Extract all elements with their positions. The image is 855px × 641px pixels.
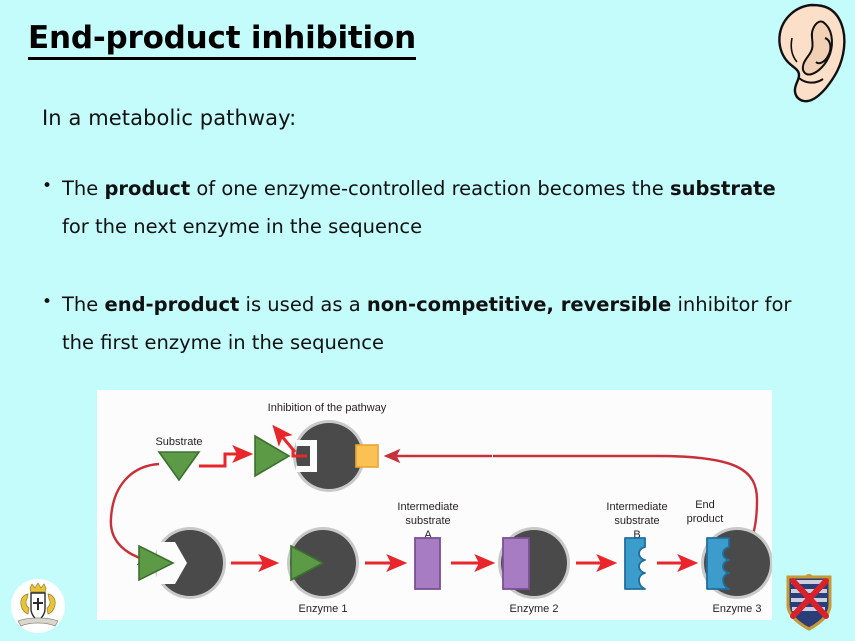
label-substrate: Substrate	[155, 436, 202, 448]
arrow-rejection	[275, 428, 295, 452]
label-end-product-line1: End	[695, 499, 715, 511]
bullet-item-1: • The product of one enzyme-controlled r…	[42, 170, 804, 246]
arrow-substrate-to-enzyme	[199, 454, 249, 466]
label-inhibition-of-pathway: Inhibition of the pathway	[268, 402, 387, 414]
arrow-substrate-down-curve	[111, 464, 159, 561]
label-enzyme-3: Enzyme 3	[713, 603, 762, 615]
substrate-blocked-molecule	[255, 436, 289, 476]
intro-text: In a metabolic pathway:	[42, 106, 296, 130]
bullet-marker-2: •	[42, 286, 62, 319]
intermediate-substrate-b	[625, 538, 645, 589]
intermediate-a-bound-enzyme-2	[503, 538, 529, 589]
bullet-marker-1: •	[42, 170, 62, 203]
page-title: End-product inhibition	[28, 22, 416, 60]
pathway-diagram: Inhibition of the pathway Substrate	[97, 390, 772, 620]
label-intermediate-a-line1: Intermediate	[397, 501, 458, 513]
label-enzyme-2: Enzyme 2	[510, 603, 559, 615]
intermediate-substrate-a	[415, 538, 440, 589]
label-end-product-line2: product	[687, 513, 724, 525]
bullet-text-2: The end-product is used as a non-competi…	[62, 286, 804, 362]
university-crest-logo	[8, 577, 68, 635]
slide-canvas: End-product inhibition In a metabolic pa…	[0, 0, 855, 641]
school-shield-badge	[783, 572, 835, 632]
label-enzyme-1: Enzyme 1	[299, 603, 348, 615]
label-intermediate-b-line2: substrate	[614, 515, 659, 527]
inhibitor-molecule-top	[356, 445, 378, 467]
bullet-text-1: The product of one enzyme-controlled rea…	[62, 170, 804, 246]
bullet-item-2: • The end-product is used as a non-compe…	[42, 286, 804, 362]
label-intermediate-b-line1: Intermediate	[606, 501, 667, 513]
ear-icon	[768, 2, 854, 106]
label-intermediate-a-line2: substrate	[405, 515, 450, 527]
substrate-molecule	[159, 452, 199, 480]
